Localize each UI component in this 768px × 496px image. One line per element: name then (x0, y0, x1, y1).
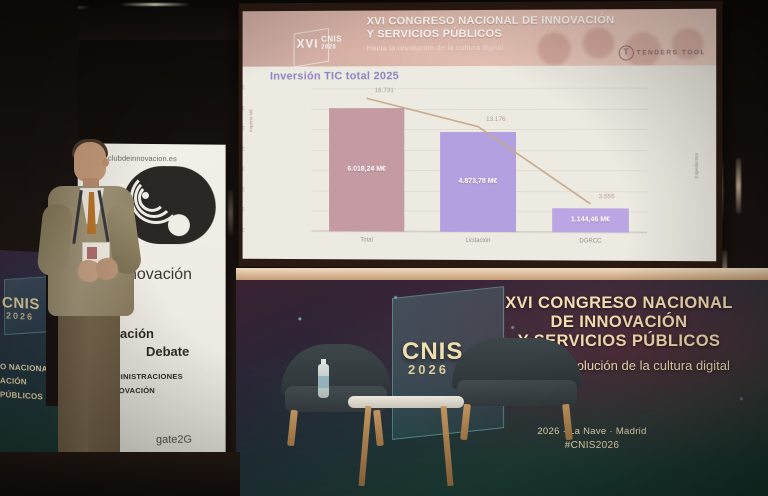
stage-floor (0, 452, 240, 496)
chart-y2-axis-title: Expedientes (694, 153, 699, 179)
side-table (348, 396, 464, 488)
projection-screen: XVI CNIS 2025 XVI CONGRESO NACIONAL DE I… (239, 1, 723, 270)
banner-line2: Debate (146, 344, 189, 359)
chart-y-tick: 2.000,00 M€ (243, 187, 245, 193)
bottle-cap (321, 359, 326, 365)
slide-header: XVI CNIS 2025 XVI CONGRESO NACIONAL DE I… (243, 9, 717, 67)
slide-title: XVI CONGRESO NACIONAL DE INNOVACIÓN Y SE… (367, 14, 658, 42)
water-bottle (318, 364, 329, 398)
wall-light-strip (736, 158, 741, 214)
banner-sponsor: gate2G (156, 434, 192, 446)
chart-x-tick: Licitación (422, 238, 534, 245)
chart-y-tick: 4.000,00 M€ (243, 147, 245, 153)
slide-title-line1: XVI CONGRESO NACIONAL DE INNOVACIÓN (367, 14, 658, 29)
ceiling-light (120, 3, 190, 6)
chart-y-tick: 3.000,00 M€ (243, 167, 245, 173)
chair-leg (562, 404, 573, 441)
cnis-cube-logo: XVI CNIS 2025 (294, 31, 345, 67)
chart-line-path (367, 98, 591, 204)
logo-cnis-year: 2025 (321, 44, 342, 52)
backdrop-title-line2: DE INNOVACIÓN (474, 313, 764, 332)
tenders-tool-name: TENDERS TOOL (637, 49, 706, 56)
chart-line-label: 13.176 (486, 116, 506, 123)
tenders-tool-logo: T TENDERS TOOL (618, 45, 706, 60)
conference-photo: XVI CNIS 2025 XVI CONGRESO NACIONAL DE I… (0, 0, 768, 496)
chart-y-tick: 6.000,00 M€ (243, 106, 245, 112)
chart-y-tick: 7.000,00 M€ (243, 85, 245, 91)
armchair-right (452, 338, 582, 450)
backdrop-title-line1: XVI CONGRESO NACIONAL (474, 294, 764, 313)
slide-subtitle: Hacia la revolución de la cultura digita… (367, 42, 617, 52)
bottle-label (318, 376, 329, 388)
slide-chart-area: Inversión TIC total 2025 Importe M€ Expe… (243, 65, 717, 261)
badge-photo-icon (87, 247, 97, 259)
logo-cnis-text: CNIS 2025 (321, 36, 342, 52)
speaker-trouser-left (58, 312, 88, 472)
table-leg (441, 406, 454, 486)
chart-line-series (311, 88, 647, 233)
chart-y-tick: 5.000,00 M€ (243, 126, 245, 132)
slide-title-line2: Y SERVICIOS PÚBLICOS (367, 27, 658, 41)
chart-y-axis-title: Importe M€ (248, 109, 253, 132)
chart-title: Inversión TIC total 2025 (270, 70, 399, 82)
table-leg (359, 406, 372, 486)
chart-x-tick: Total (311, 237, 422, 243)
chair-leg (287, 410, 298, 447)
logo-cnis-label: CNIS (321, 35, 342, 44)
chair-seat (457, 380, 577, 406)
stage-front-edge (236, 268, 768, 280)
wall-light-strip (228, 190, 233, 236)
chart-y-tick: 1.000,00 M€ (243, 208, 245, 214)
speaker-person (30, 142, 150, 482)
tenders-t-icon: T (618, 45, 633, 60)
chart-line-label: 3.555 (599, 193, 615, 200)
speaker-ear (102, 158, 109, 167)
chart-x-tick: DGRCC (534, 238, 647, 245)
speaker-trouser-right (88, 312, 120, 474)
chart-y-tick: 0,00 M€ (243, 228, 245, 234)
chart-line-label: 16.731 (375, 87, 394, 94)
chart-plot-area: 7.000,00 M€6.000,00 M€5.000,00 M€4.000,0… (311, 88, 647, 233)
logo-xvi-text: XVI (297, 37, 319, 51)
slide-surface: XVI CNIS 2025 XVI CONGRESO NACIONAL DE I… (243, 9, 717, 262)
backdrop-cube-year: 2026 (408, 362, 449, 377)
